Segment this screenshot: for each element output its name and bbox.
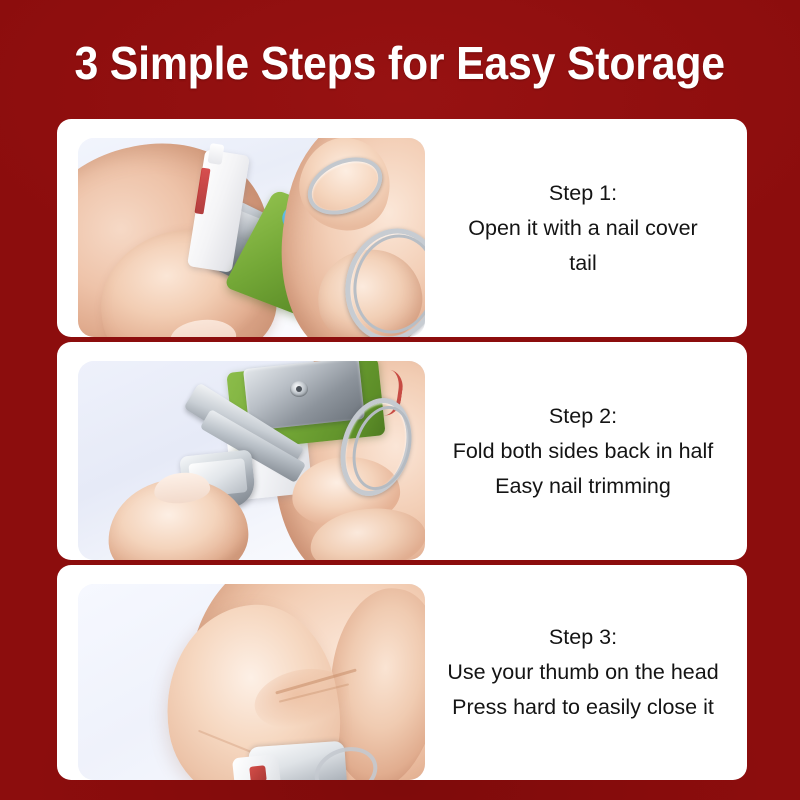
- step-2-photo: [78, 361, 425, 560]
- step-3-photo: [78, 584, 425, 780]
- pivot-screw-center: [296, 386, 302, 392]
- step-3-text: Step 3: Use your thumb on the head Press…: [425, 565, 747, 780]
- poster-title-text: 3 Simple Steps for Easy Storage: [75, 36, 725, 90]
- step-1-text: Step 1: Open it with a nail cover tail: [425, 119, 747, 337]
- step-1-label: Step 1:: [549, 176, 617, 211]
- poster-root: 3 Simple Steps for Easy Storage: [0, 0, 800, 800]
- step-1-photo-wrap: [57, 119, 425, 337]
- step-3-line-1: Use your thumb on the head: [447, 655, 718, 690]
- step-card-2: Step 2: Fold both sides back in half Eas…: [57, 342, 747, 560]
- step-2-text: Step 2: Fold both sides back in half Eas…: [425, 342, 747, 560]
- step-card-3: Step 3: Use your thumb on the head Press…: [57, 565, 747, 780]
- step-1-photo: [78, 138, 425, 337]
- step-3-photo-wrap: [57, 565, 425, 780]
- step-2-line-2: Easy nail trimming: [495, 469, 671, 504]
- step-3-line-2: Press hard to easily close it: [452, 690, 714, 725]
- red-logo-mark: [249, 765, 267, 780]
- step-1-line-2: tail: [569, 246, 596, 281]
- poster-title: 3 Simple Steps for Easy Storage: [0, 32, 800, 94]
- step-2-line-1: Fold both sides back in half: [453, 434, 714, 469]
- step-2-photo-wrap: [57, 342, 425, 560]
- step-3-label: Step 3:: [549, 620, 617, 655]
- step-1-line-1: Open it with a nail cover: [468, 211, 697, 246]
- step-2-label: Step 2:: [549, 399, 617, 434]
- step-card-1: Step 1: Open it with a nail cover tail: [57, 119, 747, 337]
